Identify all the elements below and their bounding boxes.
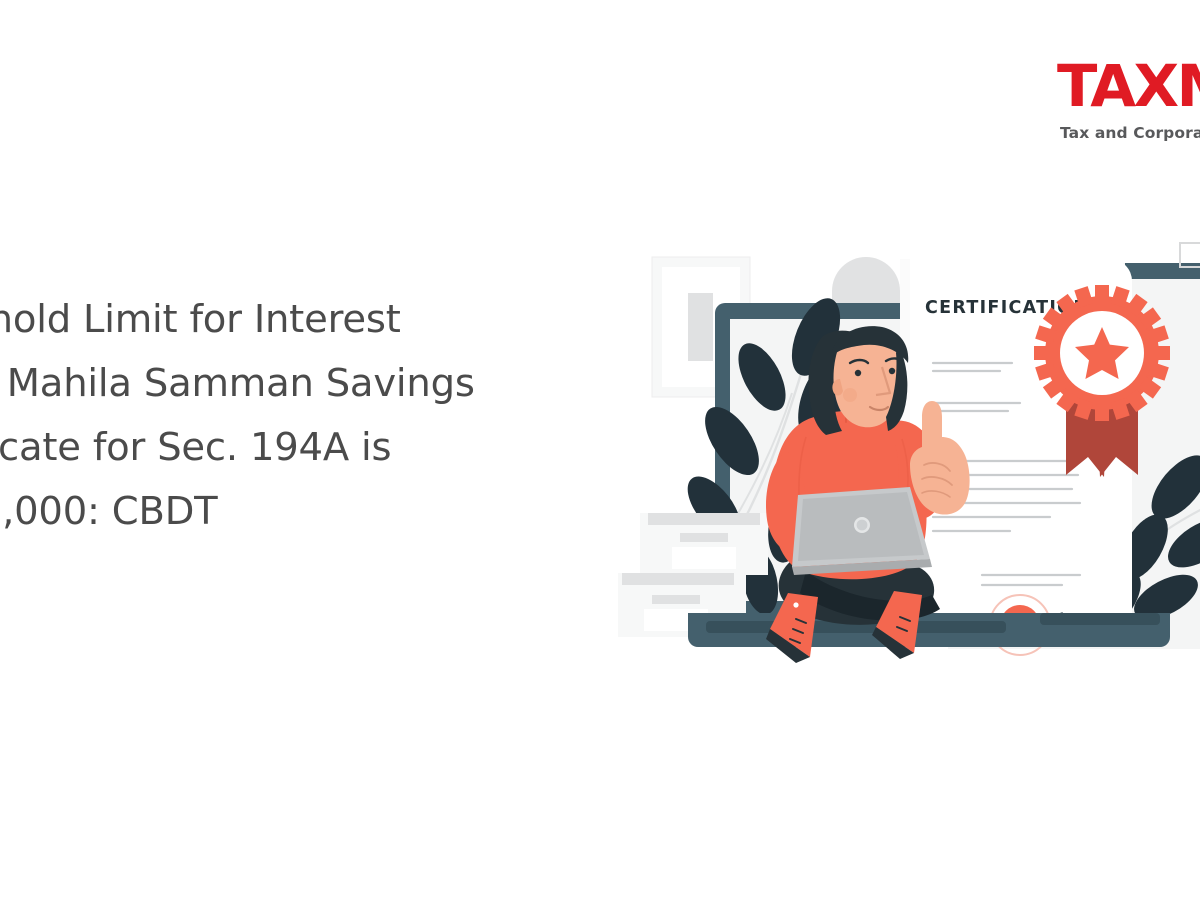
head-group <box>809 326 909 435</box>
hero-illustration: CERTIFICATION <box>610 225 1200 700</box>
page-title: Threshold Limit for Interest under Mahil… <box>0 288 643 544</box>
brand-wordmark: TAXMA <box>1057 55 1200 117</box>
illustration-svg: CERTIFICATION <box>610 225 1200 700</box>
taxmann-logo: TAXMA Tax and Corporate L <box>1057 55 1200 155</box>
desk-shelf <box>688 613 1170 647</box>
poster-canvas: TAXMA Tax and Corporate L Threshold Limi… <box>0 0 1200 900</box>
laptop-icon <box>792 487 932 575</box>
brand-tagline: Tax and Corporate L <box>1060 124 1200 142</box>
